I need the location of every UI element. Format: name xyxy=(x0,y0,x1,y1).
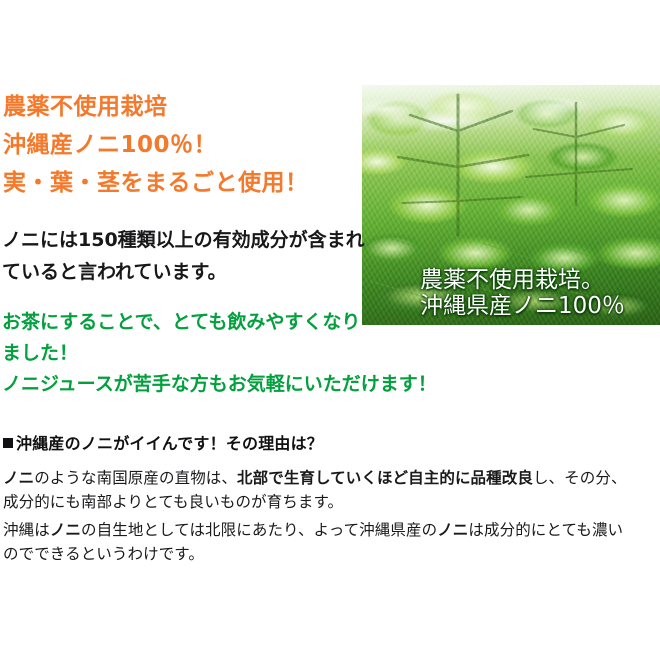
p1-mid: のような南国原産の直物は、 xyxy=(34,469,237,487)
body-paragraph-1-line-2: 成分的にも南部よりとても良いものが育ちます。 xyxy=(3,490,657,514)
intro-black-paragraph: ノニには150種類以上の有効成分が含まれ ていると言われています。 xyxy=(2,224,358,288)
intro-green-line-1: お茶にすることで、とても飲みやすくなり xyxy=(2,307,472,338)
headline-line-2: 沖縄産ノニ100％！ xyxy=(3,126,353,164)
p1-emphasis: 北部で生育していくほど自主的に品種改良 xyxy=(237,469,533,487)
p1-tail: し、その分、 xyxy=(533,469,627,487)
intro-black-line-2: ていると言われています。 xyxy=(2,256,358,288)
headline-line-3: 実・葉・茎をまるごと使用！ xyxy=(3,164,353,202)
body-paragraph-2: 沖縄はノニの自生地としては北限にあたり、よって沖縄県産のノニは成分的にとても濃い… xyxy=(3,518,657,566)
intro-green-line-3: ノニジュースが苦手な方もお気軽にいただけます！ xyxy=(2,369,472,400)
intro-black-line-1: ノニには150種類以上の有効成分が含まれ xyxy=(2,224,358,256)
p2-c: の自生地としては北限にあたり、よって沖縄県産の xyxy=(81,521,437,539)
p2-noni-bold-1: ノニ xyxy=(50,521,81,539)
section-heading-text: 沖縄産のノニがイイんです！その理由は？ xyxy=(16,434,323,453)
product-description-page: 農薬不使用栽培。 沖縄県産ノニ100％ 農薬不使用栽培 沖縄産ノニ100％！ 実… xyxy=(0,0,660,660)
headline-block: 農薬不使用栽培 沖縄産ノニ100％！ 実・葉・茎をまるごと使用！ xyxy=(3,88,353,202)
intro-green-paragraph: お茶にすることで、とても飲みやすくなり ました！ ノニジュースが苦手な方もお気軽… xyxy=(2,307,472,400)
noni-plant-photo: 農薬不使用栽培。 沖縄県産ノニ100％ xyxy=(362,85,660,325)
body-paragraph-1-line-1: ノニのような南国原産の直物は、北部で生育していくほど自主的に品種改良し、その分、 xyxy=(3,466,657,490)
body-paragraph-2-line-1: 沖縄はノニの自生地としては北限にあたり、よって沖縄県産のノニは成分的にとても濃い xyxy=(3,518,657,542)
body-paragraph-2-line-2: のでできるというわけです。 xyxy=(3,542,657,566)
photo-caption-line-1: 農薬不使用栽培。 xyxy=(420,267,660,293)
p2-e: は成分的にとても濃い xyxy=(468,521,623,539)
body-paragraph-1: ノニのような南国原産の直物は、北部で生育していくほど自主的に品種改良し、その分、… xyxy=(3,466,657,514)
section-heading: 沖縄産のノニがイイんです！その理由は？ xyxy=(3,433,323,455)
p2-noni-bold-2: ノニ xyxy=(437,521,468,539)
p1-lead-bold: ノニ xyxy=(3,469,34,487)
p2-a: 沖縄は xyxy=(3,521,50,539)
square-bullet-icon xyxy=(3,438,13,448)
intro-green-line-2: ました！ xyxy=(2,338,472,369)
body-text-block: ノニのような南国原産の直物は、北部で生育していくほど自主的に品種改良し、その分、… xyxy=(3,466,657,566)
headline-line-1: 農薬不使用栽培 xyxy=(3,88,353,126)
